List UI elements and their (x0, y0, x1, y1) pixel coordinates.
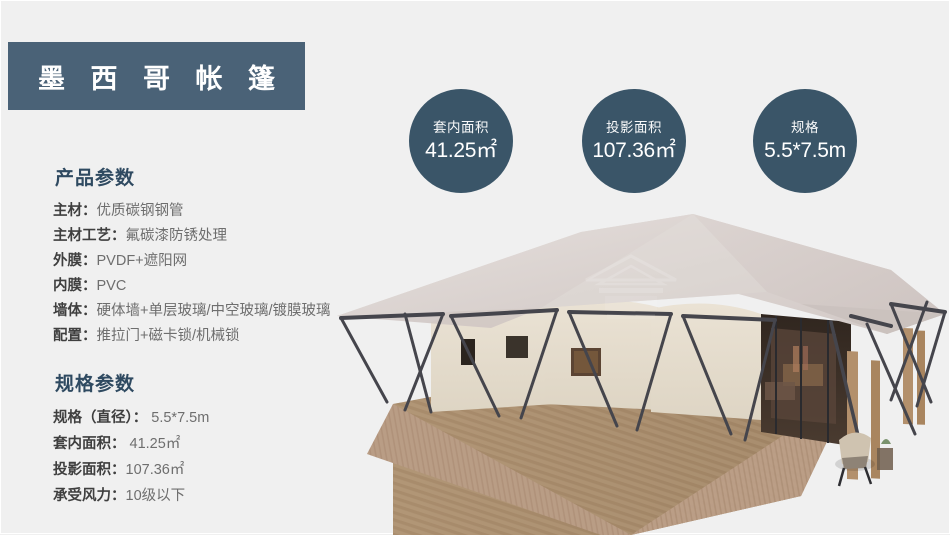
spec-row: 承受风力：10级以下 (53, 483, 353, 509)
spec-row: 投影面积：107.36㎡ (53, 457, 353, 483)
spec-row: 配置：推拉门+磁卡锁/机械锁 (53, 324, 353, 349)
spec-key: 主材工艺： (53, 228, 126, 244)
spec-row: 墙体：硬体墙+单层玻璃/中空玻璃/镀膜玻璃 (53, 299, 353, 324)
spec-row: 内膜：PVC (53, 274, 353, 299)
section-product-parameters: 产品参数 主材：优质碳钢钢管 主材工艺：氟碳漆防锈处理 外膜：PVDF+遮阳网 … (53, 163, 353, 349)
spec-key: 承受风力： (53, 488, 126, 504)
section-size-parameters: 规格参数 规格（直径）： 5.5*7.5m 套内面积： 41.25㎡ 投影面积：… (53, 369, 353, 509)
spec-row: 规格（直径）： 5.5*7.5m (53, 405, 353, 431)
section-heading-product: 产品参数 (55, 163, 353, 190)
spec-value: 41.25㎡ (126, 436, 181, 452)
page-title: 墨 西 哥 帐 篷 (29, 57, 284, 96)
badge-value: 41.25㎡ (425, 140, 497, 161)
spec-row: 主材：优质碳钢钢管 (53, 199, 353, 224)
stat-badge-projected-area: 投影面积 107.36㎡ (582, 89, 686, 193)
spec-value: 氟碳漆防锈处理 (126, 228, 228, 244)
spec-key: 规格（直径）： (53, 410, 147, 426)
tent-interior (761, 314, 851, 446)
specification-panel: 产品参数 主材：优质碳钢钢管 主材工艺：氟碳漆防锈处理 外膜：PVDF+遮阳网 … (53, 163, 353, 529)
section-heading-specs: 规格参数 (55, 369, 353, 396)
page-root: 墨 西 哥 帐 篷 产品参数 主材：优质碳钢钢管 主材工艺：氟碳漆防锈处理 外膜… (0, 0, 950, 534)
spec-key: 主材： (53, 203, 97, 219)
badge-value: 107.36㎡ (592, 140, 675, 161)
spec-value: PVC (97, 278, 127, 294)
spec-row: 外膜：PVDF+遮阳网 (53, 249, 353, 274)
spec-key: 外膜： (53, 253, 97, 269)
spec-row: 套内面积： 41.25㎡ (53, 431, 353, 457)
badge-label: 规格 (791, 121, 819, 135)
spec-key: 投影面积： (53, 462, 126, 478)
stat-badge-dimensions: 规格 5.5*7.5m (753, 89, 857, 193)
spec-key: 套内面积： (53, 436, 126, 452)
spec-value: 硬体墙+单层玻璃/中空玻璃/镀膜玻璃 (97, 303, 331, 319)
spec-key: 内膜： (53, 278, 97, 294)
spec-row: 主材工艺：氟碳漆防锈处理 (53, 224, 353, 249)
spec-key: 墙体： (53, 303, 97, 319)
spec-value: 推拉门+磁卡锁/机械锁 (97, 328, 240, 344)
badge-label: 投影面积 (606, 121, 662, 135)
title-banner: 墨 西 哥 帐 篷 (8, 42, 305, 110)
badge-value: 5.5*7.5m (764, 140, 846, 161)
stat-badge-interior-area: 套内面积 41.25㎡ (409, 89, 513, 193)
spec-value: 5.5*7.5m (147, 410, 209, 426)
spec-value: 优质碳钢钢管 (97, 203, 184, 219)
spec-key: 配置： (53, 328, 97, 344)
badge-label: 套内面积 (433, 121, 489, 135)
tent-render-image (331, 196, 950, 535)
spec-value: PVDF+遮阳网 (97, 253, 188, 269)
deck-furniture (835, 432, 893, 486)
stat-badge-group: 套内面积 41.25㎡ 投影面积 107.36㎡ 规格 5.5*7.5m (409, 89, 879, 193)
spec-value: 107.36㎡ (126, 462, 185, 478)
spec-value: 10级以下 (126, 488, 186, 504)
